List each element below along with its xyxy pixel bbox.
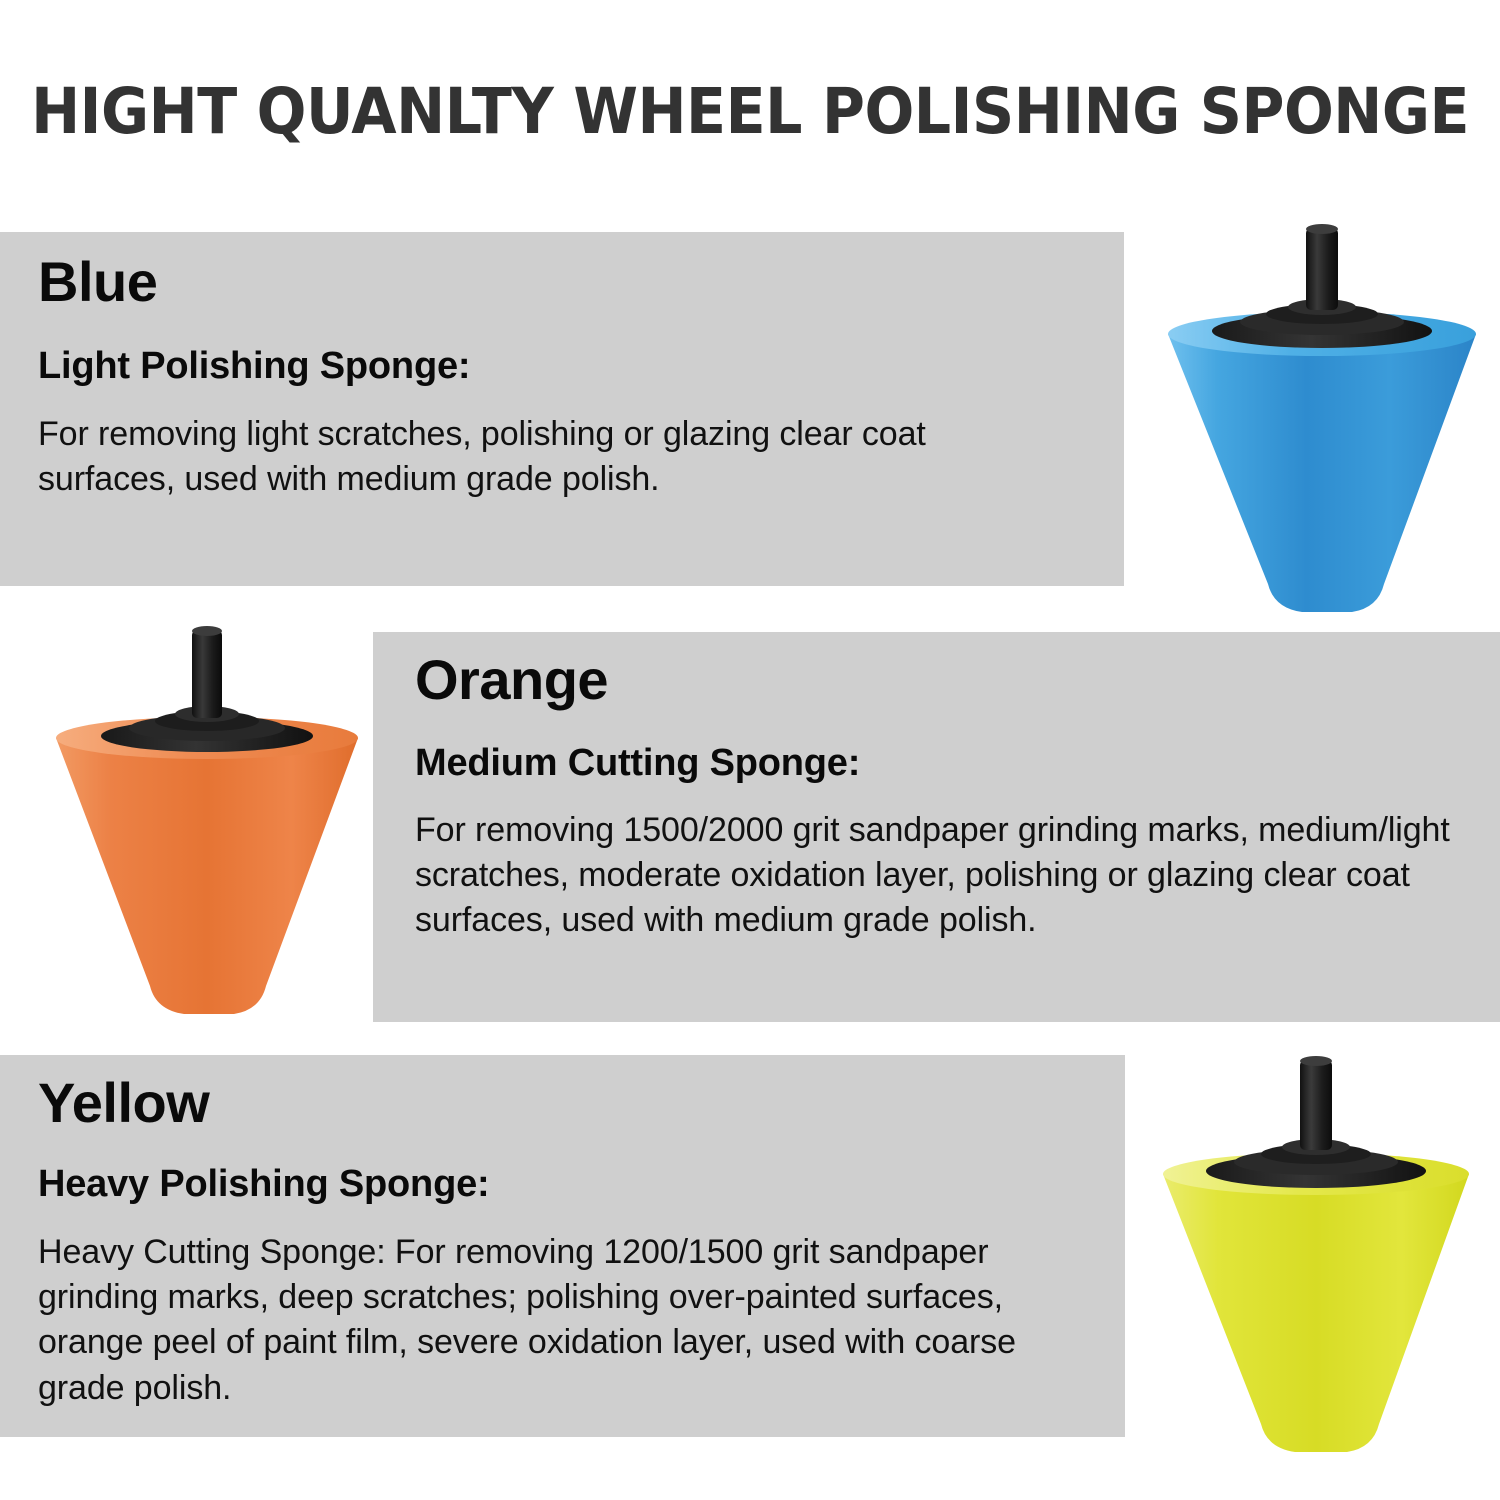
page-title: HIGHT QUANLTY WHEEL POLISHING SPONGE — [31, 80, 1469, 143]
sponge-type-blue: Light Polishing Sponge: — [38, 347, 470, 385]
sponge-cone-body-blue — [1168, 334, 1476, 612]
shaft-top-cap-orange — [192, 626, 222, 636]
section-content-blue: Blue Light Polishing Sponge: For removin… — [38, 232, 1094, 586]
section-panel-yellow: Yellow Heavy Polishing Sponge: Heavy Cut… — [0, 1055, 1125, 1437]
product-image-orange-sponge — [42, 612, 372, 1030]
sponge-description-orange: For removing 1500/2000 grit sandpaper gr… — [415, 808, 1470, 944]
product-image-yellow-sponge — [1143, 1042, 1488, 1467]
shaft-top-cap-yellow — [1300, 1056, 1332, 1066]
product-image-blue-sponge — [1152, 212, 1492, 630]
page-title-bar: HIGHT QUANLTY WHEEL POLISHING SPONGE — [0, 66, 1500, 156]
mounting-shaft-blue — [1306, 228, 1338, 310]
section-panel-orange: Orange Medium Cutting Sponge: For removi… — [373, 632, 1500, 1022]
sponge-type-orange: Medium Cutting Sponge: — [415, 744, 860, 782]
color-name-orange: Orange — [415, 652, 608, 708]
sponge-cone-body-orange — [56, 738, 358, 1014]
section-content-orange: Orange Medium Cutting Sponge: For removi… — [415, 632, 1466, 1022]
sponge-type-yellow: Heavy Polishing Sponge: — [38, 1165, 489, 1203]
mounting-shaft-yellow — [1300, 1060, 1332, 1150]
color-name-blue: Blue — [38, 254, 157, 310]
section-panel-blue: Blue Light Polishing Sponge: For removin… — [0, 232, 1124, 586]
sponge-description-blue: For removing light scratches, polishing … — [38, 412, 998, 502]
color-name-yellow: Yellow — [38, 1075, 209, 1131]
shaft-top-cap-blue — [1306, 224, 1338, 234]
sponge-description-yellow: Heavy Cutting Sponge: For removing 1200/… — [38, 1230, 1098, 1411]
section-content-yellow: Yellow Heavy Polishing Sponge: Heavy Cut… — [38, 1055, 1095, 1437]
mounting-shaft-orange — [192, 630, 222, 718]
sponge-cone-body-yellow — [1163, 1174, 1469, 1452]
